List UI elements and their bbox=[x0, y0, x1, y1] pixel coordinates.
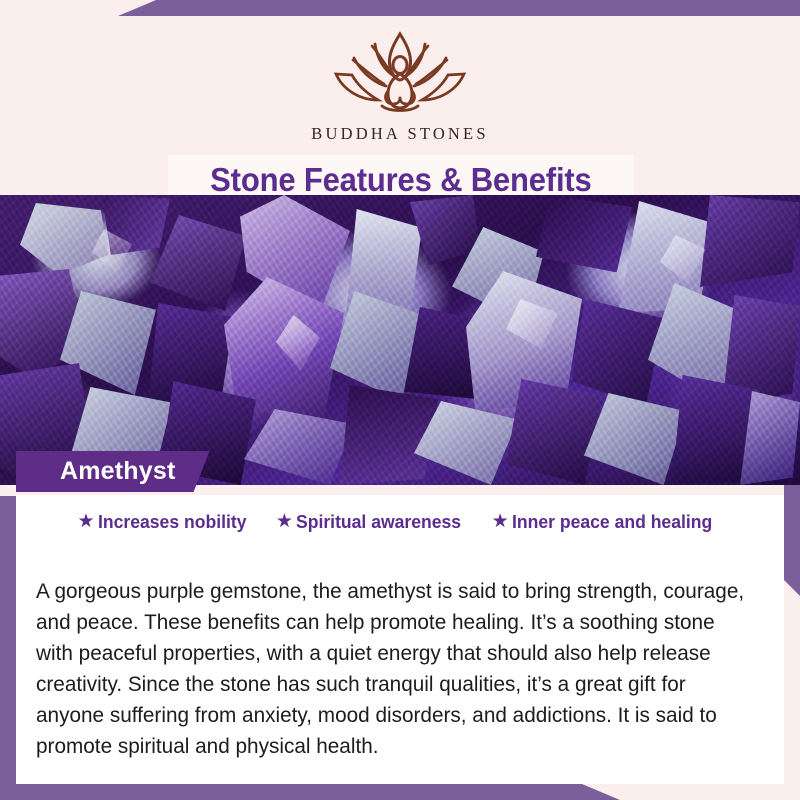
page-title: Stone Features & Benefits bbox=[210, 161, 591, 199]
content-card: ★ Increases nobility ★ Spiritual awarene… bbox=[16, 495, 784, 784]
benefits-list: ★ Increases nobility ★ Spiritual awarene… bbox=[16, 511, 784, 533]
stone-description: A gorgeous purple gemstone, the amethyst… bbox=[36, 576, 750, 762]
stone-photo-vignette bbox=[0, 195, 800, 485]
brand-logo: BUDDHA STONES bbox=[0, 28, 800, 144]
frame-band-top bbox=[118, 0, 800, 16]
benefit-label: Inner peace and healing bbox=[512, 511, 712, 533]
stone-features-infographic: BUDDHA STONES Stone Features & Benefits bbox=[0, 0, 800, 800]
stone-name-banner: Amethyst bbox=[16, 451, 210, 492]
benefit-item: ★ Spiritual awareness bbox=[276, 511, 470, 533]
star-icon: ★ bbox=[276, 512, 293, 531]
brand-name: BUDDHA STONES bbox=[0, 124, 800, 144]
stone-photo bbox=[0, 195, 800, 485]
benefit-label: Increases nobility bbox=[98, 511, 246, 533]
frame-band-bottom bbox=[0, 784, 620, 800]
benefit-label: Spiritual awareness bbox=[296, 511, 461, 533]
star-icon: ★ bbox=[78, 512, 95, 531]
frame-band-left bbox=[0, 496, 16, 800]
benefit-item: ★ Inner peace and healing bbox=[492, 511, 723, 533]
star-icon: ★ bbox=[492, 512, 509, 531]
header: BUDDHA STONES Stone Features & Benefits bbox=[0, 16, 800, 195]
lotus-meditation-figure-icon bbox=[320, 28, 480, 120]
stone-name: Amethyst bbox=[60, 457, 176, 486]
benefit-item: ★ Increases nobility bbox=[78, 511, 254, 533]
